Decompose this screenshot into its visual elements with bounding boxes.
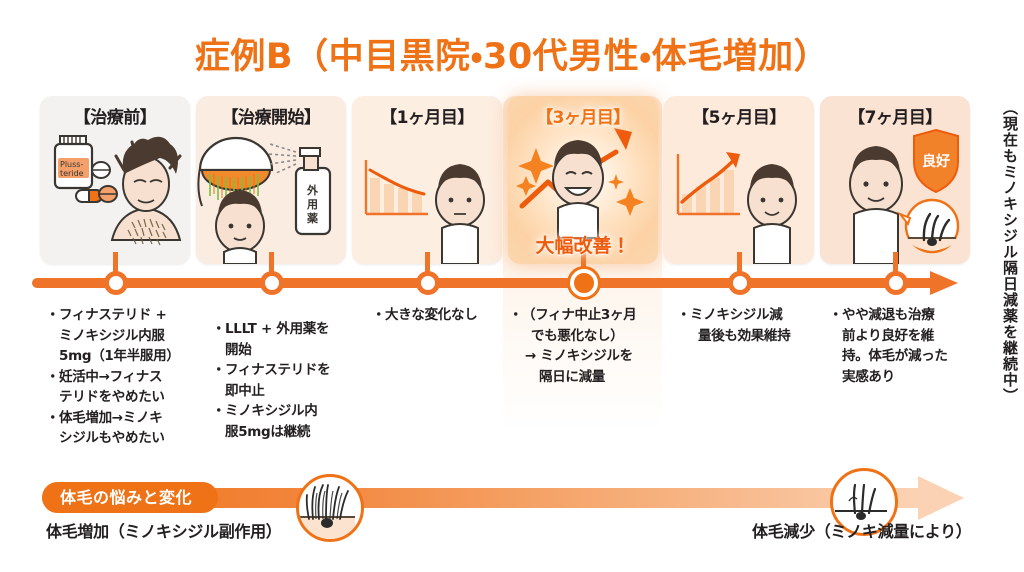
timeline-node-month5[interactable] [728, 271, 752, 295]
bottom-arrowhead-icon [918, 476, 964, 520]
illustration-man-with-good-badge-and-follicle: 良好 [820, 122, 970, 264]
note-line: 量後も効果維持 [679, 327, 839, 347]
note-line: （フィナ中止3ヶ月 [511, 306, 677, 326]
card-header-month1: 【1ヶ月目】 [352, 103, 502, 128]
bottom-summary-band: 体毛の悩みと変化 [0, 468, 1024, 572]
notes-before: フィナステリド + ミノキシジル内服 5mg（1年半服用） 妊活中→フィナス テ… [48, 306, 208, 450]
infographic-page: 症例B（中目黒院・30代男性・体毛増加） 【治療前】 Pluss- [0, 0, 1024, 572]
note-line: ミノキシジル減 [679, 306, 839, 326]
note-line: LLLT + 外用薬を [214, 320, 374, 340]
illustration-pill-bottle-and-hairy-man: Pluss- teride [40, 122, 190, 264]
notes-start: LLLT + 外用薬を 開始 フィナステリドを 即中止 ミノキシジル内 服5mg… [214, 320, 374, 443]
svg-text:teride: teride [60, 169, 84, 178]
card-header-month5: 【5ヶ月目】 [664, 103, 814, 128]
illustration-rising-chart-and-man [664, 122, 814, 264]
notes-month7: やや減退も治療 前より良好を維 持。体毛が減った 実感あり [831, 306, 991, 388]
svg-text:薬: 薬 [307, 211, 319, 225]
card-header-before: 【治療前】 [40, 103, 190, 128]
timeline-node-month3[interactable] [570, 269, 598, 297]
note-line: 5mg（1年半服用） [48, 347, 208, 367]
note-columns: フィナステリド + ミノキシジル内服 5mg（1年半服用） 妊活中→フィナス テ… [34, 306, 974, 456]
bottom-pill-label: 体毛の悩みと変化 [42, 482, 218, 513]
side-note-vertical: （現在もミノキシジル隔日減薬を継続中） [988, 100, 1018, 440]
note-line: フィナステリドを [214, 361, 374, 381]
card-header-month7: 【7ヶ月目】 [820, 103, 970, 128]
illustration-lllt-helmet-and-topical-spray: 外 用 薬 [196, 122, 346, 264]
timeline-card-month7[interactable]: 【7ヶ月目】 良好 [820, 96, 970, 264]
svg-text:良好: 良好 [922, 153, 950, 170]
note-line: 服5mgは継続 [214, 423, 374, 443]
card-header-month3: 【3ヶ月目】 [508, 103, 658, 128]
note-line: フィナステリド + [48, 306, 208, 326]
illustration-declining-chart-and-neutral-man [352, 122, 502, 264]
page-title: 症例B（中目黒院・30代男性・体毛増加） [0, 28, 1024, 79]
timeline-card-month1[interactable]: 【1ヶ月目】 [352, 96, 502, 264]
timeline-arrowhead-icon [930, 271, 958, 295]
timeline-node-start[interactable] [260, 271, 284, 295]
timeline-node-month1[interactable] [416, 271, 440, 295]
note-line: 持。体毛が減った [831, 347, 991, 367]
note-line: 妊活中→フィナス [48, 368, 208, 388]
notes-month3: （フィナ中止3ヶ月 でも悪化なし） → ミノキシジルを 隔日に減量 [511, 306, 677, 388]
card-header-start: 【治療開始】 [196, 103, 346, 128]
svg-text:用: 用 [307, 198, 318, 211]
note-line: 即中止 [214, 382, 374, 402]
timeline-cards: 【治療前】 Pluss- teride [40, 96, 970, 264]
timeline-node-before[interactable] [104, 271, 128, 295]
timeline-card-month3[interactable]: 【3ヶ月目】 [508, 96, 658, 264]
note-line: シジルもやめたい [48, 429, 208, 449]
bottom-right-label: 体毛減少（ミノキ減量により） [752, 518, 971, 542]
hair-follicle-dense-icon [296, 474, 364, 542]
timeline-node-month7[interactable] [884, 271, 908, 295]
main-timeline-arrow [32, 272, 960, 294]
note-line: 隔日に減量 [511, 368, 677, 388]
note-line: やや減退も治療 [831, 306, 991, 326]
note-line: 開始 [214, 341, 374, 361]
note-line: ミノキシジル内 [214, 402, 374, 422]
svg-text:外: 外 [306, 183, 319, 197]
timeline-card-before[interactable]: 【治療前】 Pluss- teride [40, 96, 190, 264]
note-line: 実感あり [831, 368, 991, 388]
bottom-left-label: 体毛増加（ミノキシジル副作用） [46, 518, 282, 542]
timeline-card-start[interactable]: 【治療開始】 [196, 96, 346, 264]
note-line: ミノキシジル内服 [48, 327, 208, 347]
note-line: テリドをやめたい [48, 388, 208, 408]
note-line: → ミノキシジルを [511, 347, 677, 367]
svg-text:Pluss-: Pluss- [60, 160, 83, 169]
notes-month5: ミノキシジル減 量後も効果維持 [679, 306, 839, 347]
note-line: でも悪化なし） [511, 327, 677, 347]
note-line: 体毛増加→ミノキ [48, 409, 208, 429]
note-line: 前より良好を維 [831, 327, 991, 347]
timeline-card-month5[interactable]: 【5ヶ月目】 [664, 96, 814, 264]
timeline-bar [32, 278, 932, 288]
callout-major-improvement: 大幅改善！ [508, 231, 658, 258]
